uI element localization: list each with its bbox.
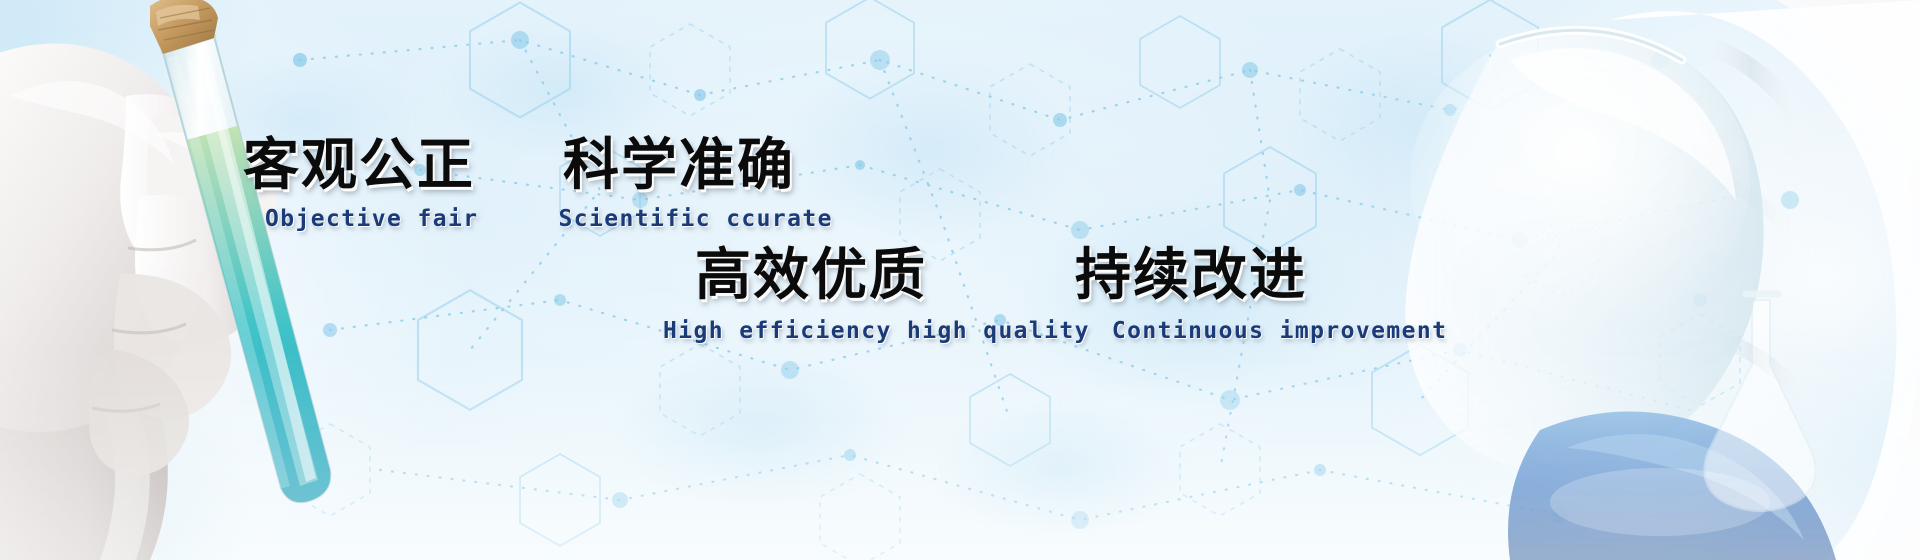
beaker bbox=[1405, 27, 1763, 471]
slogan-row-1: 客观公正 科学准确 Objective fair Scientific ccur… bbox=[243, 138, 833, 231]
blue-solution bbox=[1508, 411, 1836, 560]
flask bbox=[1704, 294, 1815, 511]
slogan-cn-high-efficiency: 高效优质 bbox=[695, 248, 927, 304]
laboratory-slogan-banner: 客观公正 科学准确 Objective fair Scientific ccur… bbox=[0, 0, 1920, 560]
slogan-cn-scientific-accurate: 科学准确 bbox=[563, 138, 795, 194]
slogan-row-2-chinese: 高效优质 持续改进 bbox=[663, 248, 1447, 304]
slogan-en-high-efficiency: High efficiency high quality bbox=[663, 320, 1090, 343]
slogan-cn-objective-fair: 客观公正 bbox=[243, 138, 475, 194]
slogan-row-1-chinese: 客观公正 科学准确 bbox=[243, 138, 833, 194]
slogan-row-1-english: Objective fair Scientific ccurate bbox=[243, 208, 833, 231]
test-tube bbox=[150, 0, 360, 560]
latex-glove-hand bbox=[0, 43, 277, 475]
lab-coat-sleeve bbox=[1610, 0, 1920, 560]
slogan-en-continuous-improvement: Continuous improvement bbox=[1112, 320, 1447, 343]
cork-stopper bbox=[150, 0, 218, 54]
slogan-row-2: 高效优质 持续改进 High efficiency high quality C… bbox=[663, 248, 1447, 343]
slogan-cn-continuous-improvement: 持续改进 bbox=[1075, 248, 1307, 304]
slogan-en-scientific-accurate: Scientific ccurate bbox=[558, 208, 832, 231]
gloved-hand-test-tube-illustration bbox=[0, 0, 430, 560]
slogan-en-objective-fair: Objective fair bbox=[265, 208, 478, 231]
glove-cuff bbox=[0, 296, 168, 560]
slogan-row-2-english: High efficiency high quality Continuous … bbox=[663, 320, 1447, 343]
